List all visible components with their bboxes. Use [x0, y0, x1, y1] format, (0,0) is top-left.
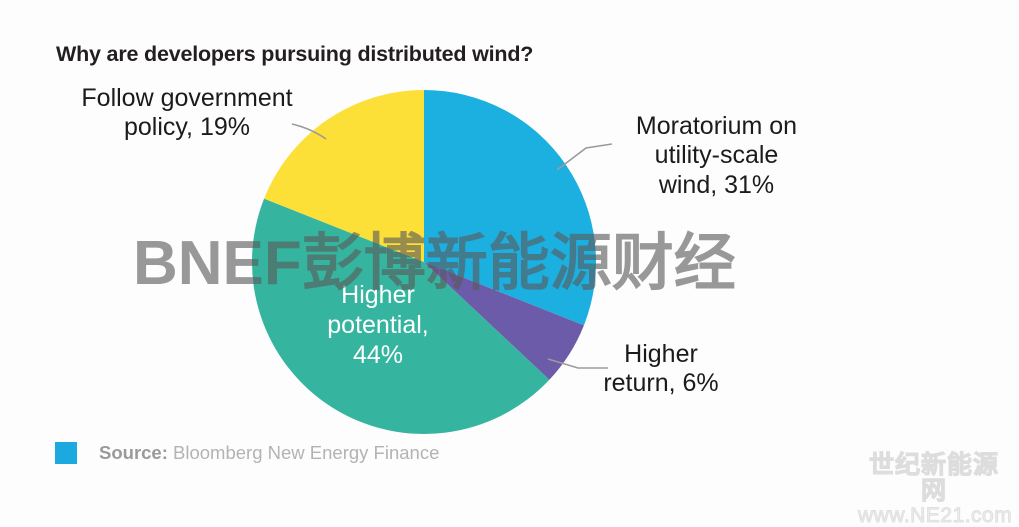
source-text: Source: Bloomberg New Energy Finance — [99, 442, 439, 464]
label-moratorium: Moratorium on utility-scale wind, 31% — [614, 112, 819, 200]
label-higher-return: Higher return, 6% — [572, 340, 750, 399]
chart-canvas: Why are developers pursuing distributed … — [0, 0, 1019, 504]
source-note: Source: Bloomberg New Energy Finance — [55, 442, 439, 464]
watermark-ne21-url: www.NE21.com — [858, 505, 1010, 527]
label-follow-policy: Follow government policy, 19% — [52, 84, 322, 143]
source-color-swatch — [55, 442, 77, 464]
source-label: Source: — [99, 442, 168, 463]
source-value: Bloomberg New Energy Finance — [173, 442, 439, 463]
pie-chart-svg — [0, 0, 1019, 504]
label-higher-potential: Higher potential, 44% — [298, 280, 458, 370]
pie-chart — [0, 0, 1019, 504]
